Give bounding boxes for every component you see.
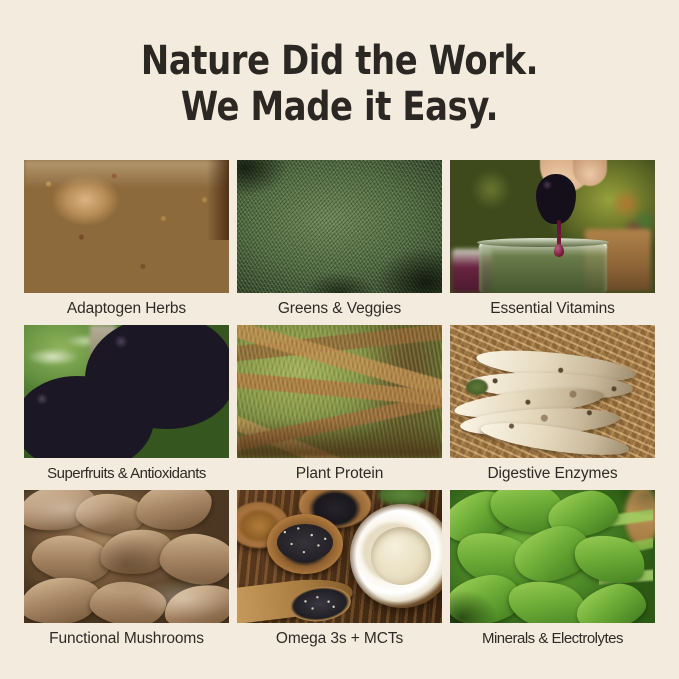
digestive-enzymes-photo (450, 325, 655, 458)
greens-veggies-photo (237, 160, 442, 293)
grid-cell-essential-vitamins: Essential Vitamins (450, 160, 655, 325)
caption-greens-veggies: Greens & Veggies (237, 293, 442, 325)
adaptogen-herbs-photo (24, 160, 229, 293)
plant-protein-photo (237, 325, 442, 458)
functional-mushrooms-photo (24, 490, 229, 623)
grid-cell-minerals-electrolytes: Minerals & Electrolytes (450, 490, 655, 655)
ingredient-grid: Adaptogen Herbs Greens & Veggies (24, 160, 655, 655)
grid-cell-functional-mushrooms: Functional Mushrooms (24, 490, 229, 655)
grid-cell-digestive-enzymes: Digestive Enzymes (450, 325, 655, 490)
grid-cell-plant-protein: Plant Protein (237, 325, 442, 490)
caption-superfruits-antioxidants: Superfruits & Antioxidants (24, 458, 229, 490)
minerals-electrolytes-photo (450, 490, 655, 623)
headline-line-2: We Made it Easy. (20, 84, 658, 130)
caption-minerals-electrolytes: Minerals & Electrolytes (450, 623, 655, 655)
caption-plant-protein: Plant Protein (237, 458, 442, 490)
product-benefits-poster: Nature Did the Work. We Made it Easy. Ad… (0, 0, 679, 679)
superfruits-antioxidants-photo (24, 325, 229, 458)
grid-cell-greens-veggies: Greens & Veggies (237, 160, 442, 325)
page-title: Nature Did the Work. We Made it Easy. (20, 0, 658, 130)
caption-functional-mushrooms: Functional Mushrooms (24, 623, 229, 655)
caption-adaptogen-herbs: Adaptogen Herbs (24, 293, 229, 325)
headline-line-1: Nature Did the Work. (20, 38, 658, 84)
caption-essential-vitamins: Essential Vitamins (450, 293, 655, 325)
omega-3s-mcts-photo (237, 490, 442, 623)
grid-cell-superfruits-antioxidants: Superfruits & Antioxidants (24, 325, 229, 490)
grid-cell-adaptogen-herbs: Adaptogen Herbs (24, 160, 229, 325)
caption-digestive-enzymes: Digestive Enzymes (450, 458, 655, 490)
grid-cell-omega-3s-mcts: Omega 3s + MCTs (237, 490, 442, 655)
caption-omega-3s-mcts: Omega 3s + MCTs (237, 623, 442, 655)
essential-vitamins-photo (450, 160, 655, 293)
